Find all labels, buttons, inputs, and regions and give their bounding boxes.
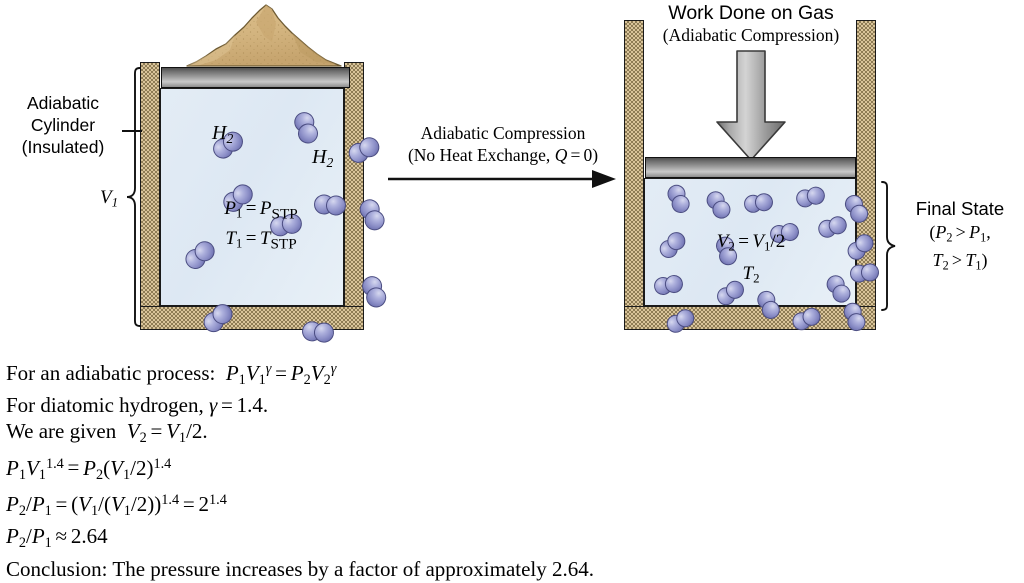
final-temperature-label: T2 [686, 260, 816, 292]
work-arrow-icon [713, 50, 789, 162]
h-atom [313, 322, 335, 344]
h2-molecule [794, 185, 827, 210]
left-h2-label-1: H2 [212, 122, 233, 147]
derivation-line-1: For an adiabatic process: P1V1γ=P2V2γ [6, 357, 766, 393]
final-state-condition-temperature: T2>T1) [898, 249, 1022, 277]
figure-canvas: H2 H2 P1=PSTP T1=TSTP Adiabatic Cylinder… [0, 0, 1024, 559]
v1-label: V1 [100, 187, 118, 211]
derivation-line-3: We are given V2=V1/2. [6, 419, 766, 452]
h-atom [326, 195, 348, 217]
derivation-block: For an adiabatic process: P1V1γ=P2V2γ Fo… [6, 357, 766, 583]
callout-line-1: Adiabatic [2, 92, 124, 114]
final-state-title: Final State [898, 198, 1022, 220]
callout-line-3: (Insulated) [2, 136, 124, 158]
final-volume-equation: V2=V1/2 [686, 228, 816, 260]
work-done-sublabel: (Adiabatic Compression) [620, 25, 882, 46]
right-piston [645, 157, 856, 178]
derivation-line-5: P2/P1=(V1/(V1/2))1.4=21.4 [6, 488, 766, 524]
initial-temperature-equation: T1=TSTP [196, 226, 326, 256]
final-state-brace [880, 180, 896, 312]
h2-molecule [653, 274, 685, 297]
derivation-line-6: P2/P1≈2.64 [6, 524, 766, 557]
h2-molecule [823, 272, 854, 306]
h2-molecule [743, 192, 774, 214]
left-state-equations: P1=PSTP T1=TSTP [196, 196, 326, 257]
right-cylinder-wall-left [624, 20, 644, 330]
initial-pressure-equation: P1=PSTP [196, 196, 326, 226]
left-piston [161, 67, 350, 88]
h2-molecule [703, 188, 734, 222]
h2-subscript: 2 [226, 131, 233, 146]
process-arrow-icon [388, 168, 618, 190]
h2-molecule [665, 182, 693, 216]
h2-molecule [292, 110, 321, 147]
derivation-line-4: P1V11.4=P2(V1/2)1.4 [6, 452, 766, 488]
left-cylinder-wall-left [140, 62, 160, 330]
process-annotation-line-1: Adiabatic Compression [378, 122, 628, 144]
h-atom [860, 263, 880, 283]
work-done-label: Work Done on Gas [620, 2, 882, 25]
adiabatic-cylinder-callout: Adiabatic Cylinder (Insulated) [2, 92, 124, 158]
process-annotation: Adiabatic Compression (No Heat Exchange,… [378, 122, 628, 166]
h2-molecule [849, 263, 880, 284]
left-h2-label-2: H2 [312, 146, 333, 171]
v1-brace [126, 66, 142, 328]
final-state-condition-pressure: (P2>P1, [898, 221, 1022, 249]
h2-molecule [656, 228, 689, 261]
final-state-conditions: (P2>P1, T2>T1) [898, 221, 1022, 278]
callout-line-2: Cylinder [2, 114, 124, 136]
derivation-line-2: For diatomic hydrogen, γ=1.4. [6, 393, 766, 419]
right-cylinder-base [624, 306, 876, 330]
right-cylinder-wall-right [856, 20, 876, 330]
right-state-equations: V2=V1/2 T2 [686, 228, 816, 291]
sand-pile [186, 2, 342, 68]
process-annotation-line-2: (No Heat Exchange, Q=0) [378, 144, 628, 166]
h2-molecule [301, 320, 335, 343]
h2-molecule [816, 214, 849, 240]
derivation-conclusion: Conclusion: The pressure increases by a … [6, 557, 766, 583]
work-done-title: Work Done on Gas [620, 2, 882, 25]
